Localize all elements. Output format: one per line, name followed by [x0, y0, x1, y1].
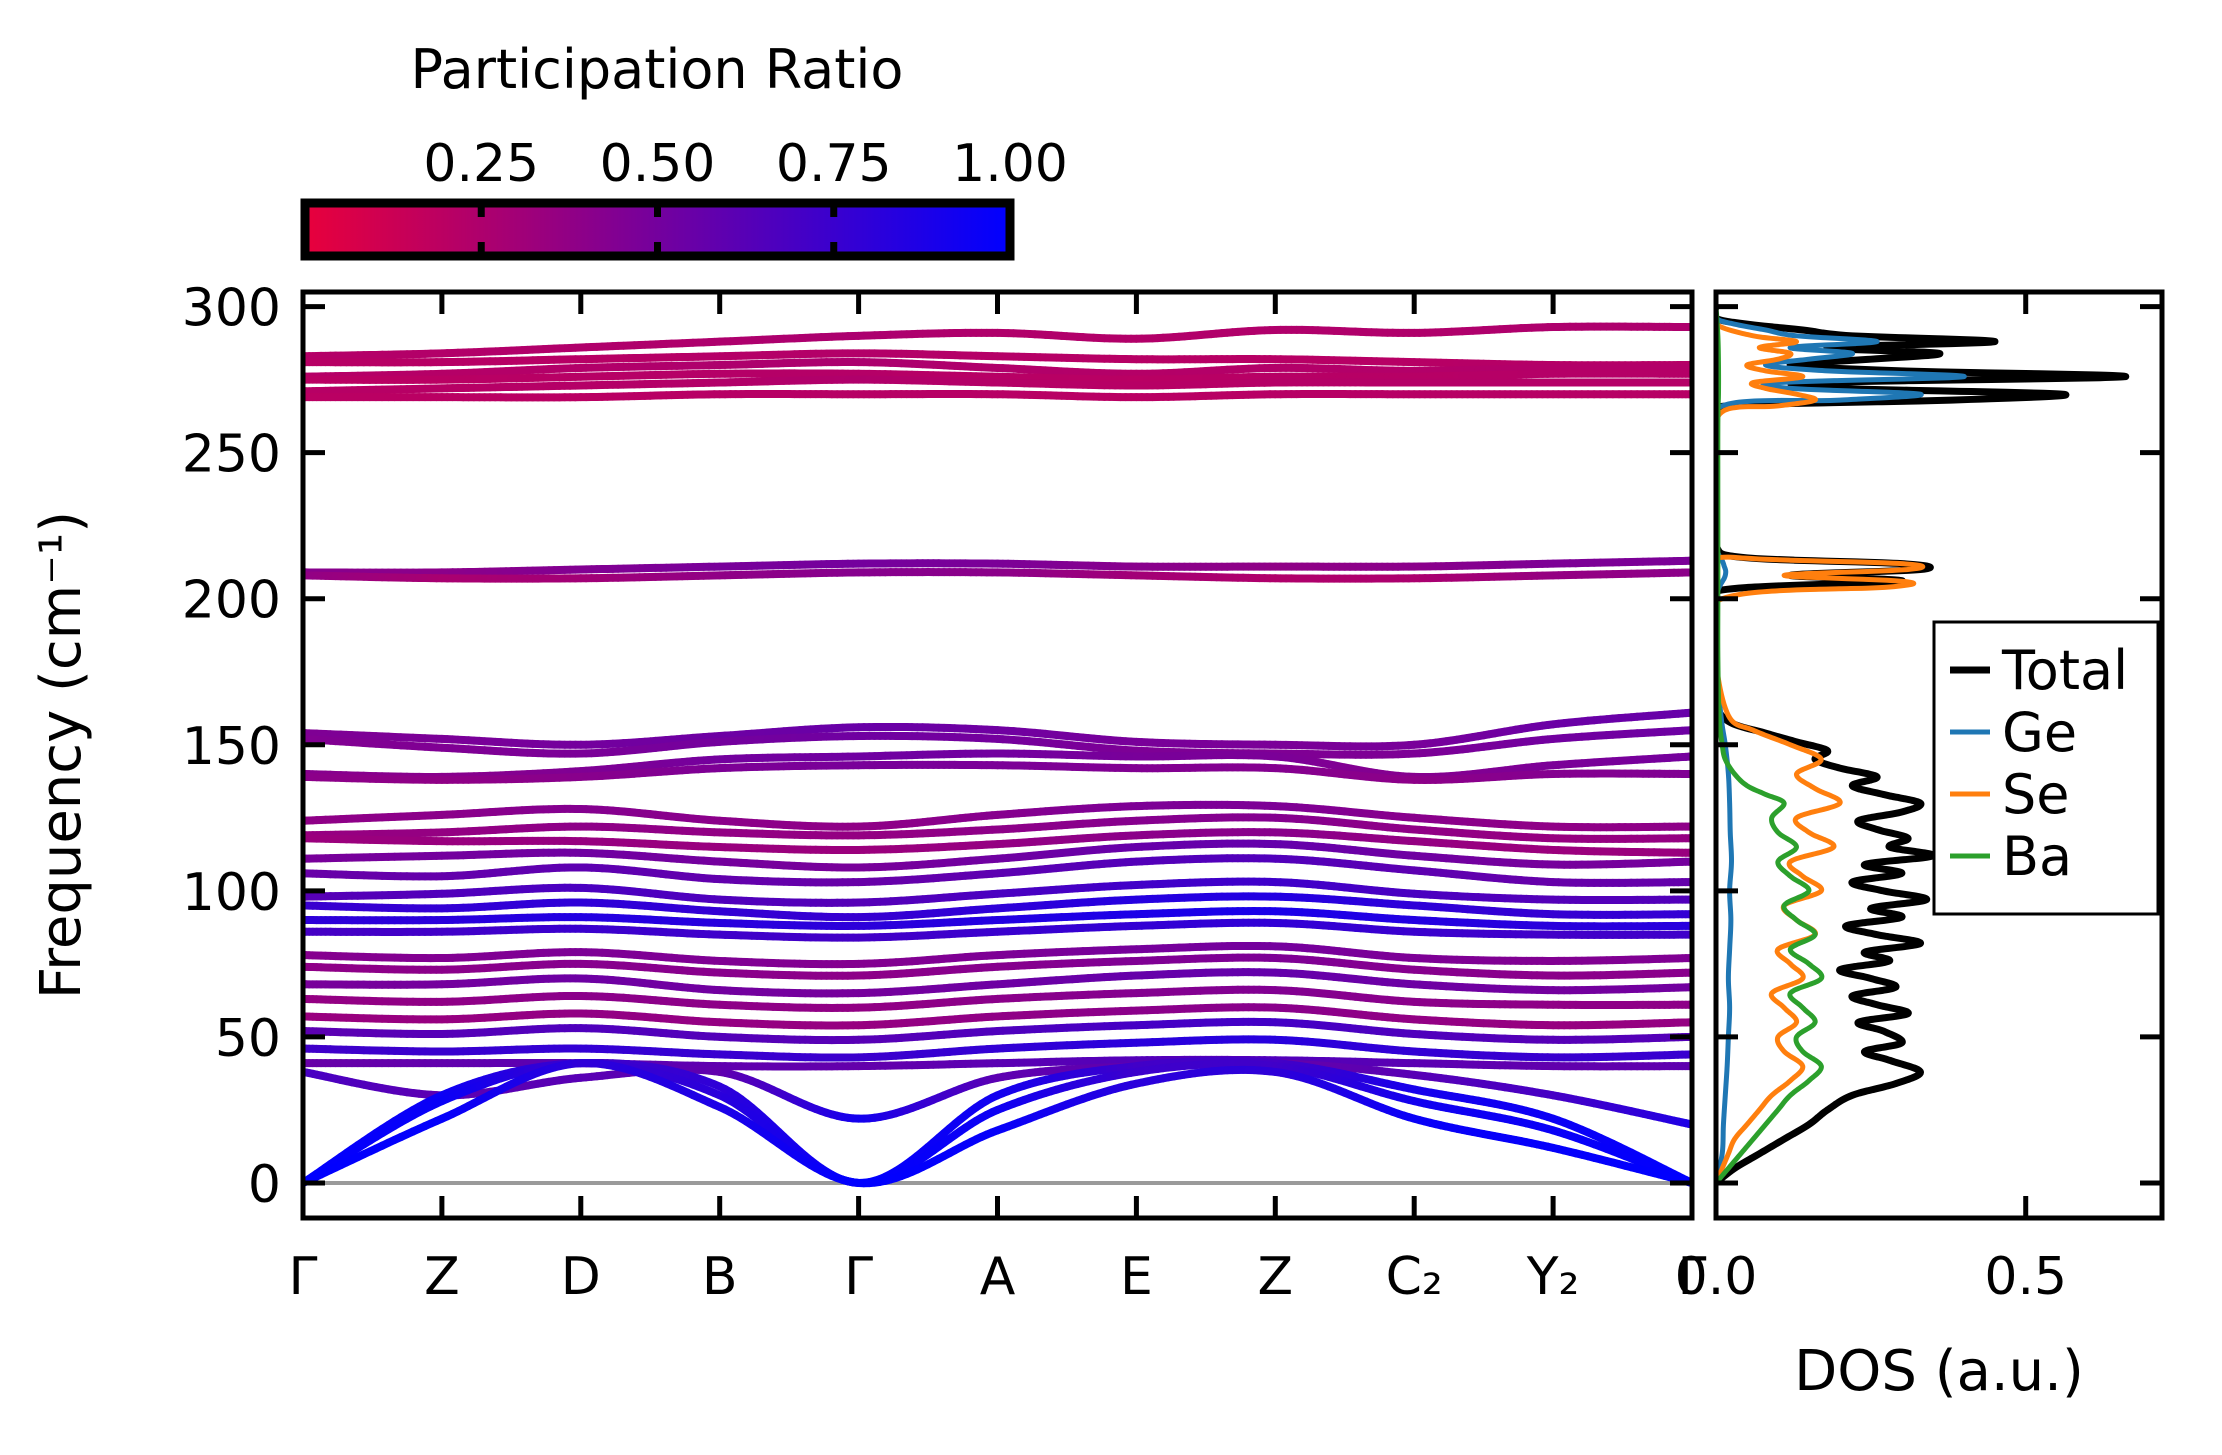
band-structure-panel: Frequency (cm⁻¹) 050100150200250300 ΓZDB… [29, 279, 1707, 1307]
colorbar-tick-label: 0.75 [776, 134, 892, 194]
frequency-axis-label: Frequency (cm⁻¹) [29, 511, 94, 999]
phonon-figure: Participation Ratio 0.250.500.751.00 Fre… [0, 0, 2222, 1455]
colorbar-tick-label: 0.50 [600, 134, 716, 194]
colorbar-tick-label: 0.25 [423, 134, 539, 194]
colorbar-tick-labels: 0.250.500.751.00 [423, 134, 1068, 194]
phonon-band-curves [303, 327, 1692, 1184]
colorbar-title: Participation Ratio [411, 38, 904, 101]
colorbar-group: Participation Ratio 0.250.500.751.00 [305, 38, 1068, 256]
colorbar-tick-label: 1.00 [952, 134, 1068, 194]
figure-canvas: Participation Ratio 0.250.500.751.00 Fre… [0, 0, 2222, 1455]
